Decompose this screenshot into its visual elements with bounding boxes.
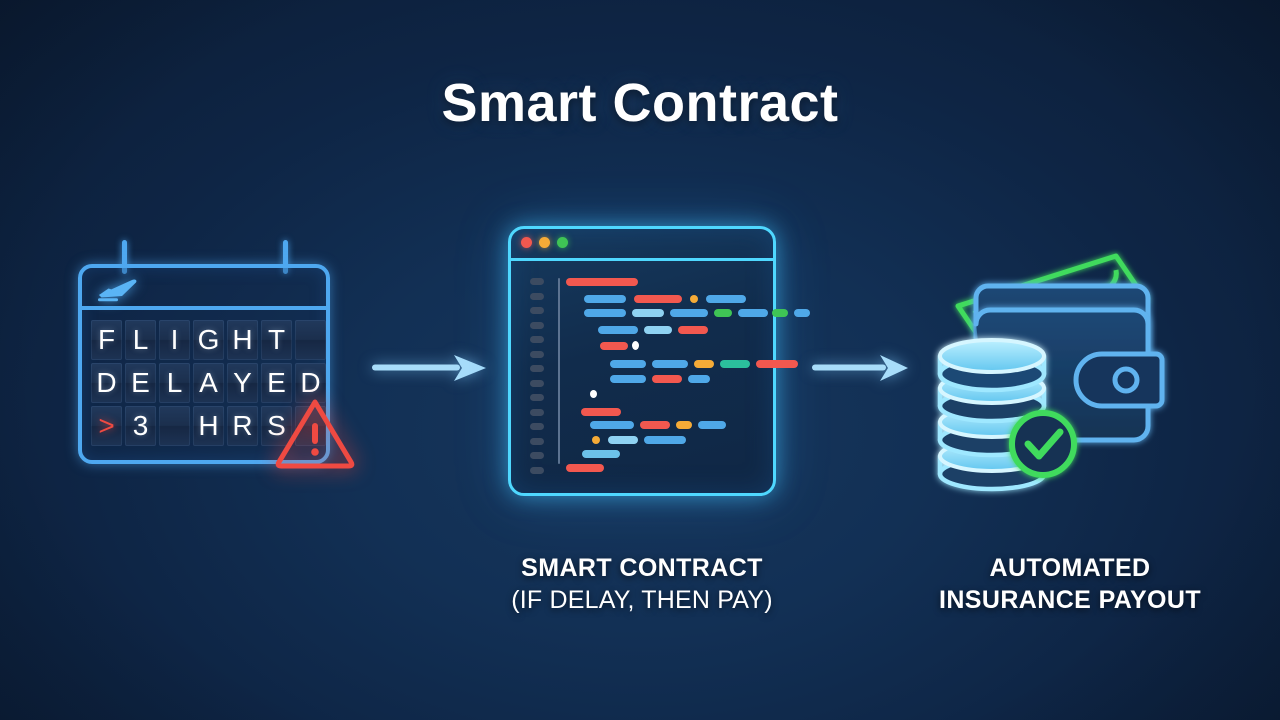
minimize-dot-icon[interactable] bbox=[539, 237, 550, 248]
code-token bbox=[632, 341, 639, 350]
line-number-pill bbox=[530, 365, 544, 372]
code-token bbox=[688, 375, 710, 383]
arrow-board-to-contract bbox=[372, 352, 490, 384]
flap-char: I bbox=[159, 320, 190, 360]
code-token bbox=[600, 342, 628, 350]
code-token bbox=[652, 375, 682, 383]
line-number-pill bbox=[530, 351, 544, 358]
code-token bbox=[756, 360, 798, 368]
code-token bbox=[714, 309, 732, 317]
code-token bbox=[706, 295, 746, 303]
code-token bbox=[610, 360, 646, 368]
line-number-pill bbox=[530, 438, 544, 445]
maximize-dot-icon[interactable] bbox=[557, 237, 568, 248]
code-token bbox=[581, 408, 621, 416]
code-token bbox=[584, 295, 626, 303]
line-number-pill bbox=[530, 467, 544, 474]
gutter-divider bbox=[558, 278, 560, 464]
window-title-bar bbox=[508, 226, 776, 261]
code-token bbox=[690, 295, 698, 303]
code-token bbox=[772, 309, 788, 317]
wallet-clasp bbox=[1076, 354, 1162, 406]
flap-char bbox=[295, 320, 326, 360]
caption-line-1: SMART CONTRACT bbox=[432, 552, 852, 584]
flap-char: L bbox=[159, 363, 190, 403]
caption-line-1: AUTOMATED bbox=[860, 552, 1280, 584]
infographic-canvas: Smart Contract FLIGHT DELAYED >3HRS bbox=[0, 0, 1280, 720]
check-circle-icon bbox=[1012, 413, 1074, 475]
code-token bbox=[640, 421, 670, 429]
flap-char: F bbox=[91, 320, 122, 360]
code-token bbox=[590, 390, 597, 398]
line-number-pill bbox=[530, 423, 544, 430]
line-number-pill bbox=[530, 278, 544, 285]
code-token bbox=[634, 295, 682, 303]
flap-char: H bbox=[227, 320, 258, 360]
code-token bbox=[610, 375, 646, 383]
line-number-pill bbox=[530, 293, 544, 300]
code-token bbox=[678, 326, 708, 334]
code-token bbox=[582, 450, 620, 458]
flap-row: FLIGHT bbox=[91, 320, 321, 360]
code-token bbox=[590, 421, 634, 429]
code-token bbox=[794, 309, 810, 317]
flap-char: 3 bbox=[125, 406, 156, 446]
flap-char: D bbox=[91, 363, 122, 403]
line-number-pill bbox=[530, 307, 544, 314]
code-token bbox=[652, 360, 688, 368]
code-token bbox=[670, 309, 708, 317]
code-token-area bbox=[566, 278, 762, 468]
code-token bbox=[566, 278, 638, 286]
code-token bbox=[644, 436, 686, 444]
caption-line-2: INSURANCE PAYOUT bbox=[860, 584, 1280, 616]
code-token bbox=[694, 360, 714, 368]
smart-contract-code-window bbox=[508, 226, 776, 496]
page-title: Smart Contract bbox=[0, 72, 1280, 134]
flap-char: R bbox=[227, 406, 258, 446]
code-token bbox=[608, 436, 638, 444]
code-token bbox=[698, 421, 726, 429]
line-number-gutter bbox=[530, 278, 544, 474]
arrow-contract-to-payout bbox=[812, 352, 912, 384]
flight-board: FLIGHT DELAYED >3HRS bbox=[78, 240, 338, 480]
line-number-pill bbox=[530, 452, 544, 459]
flap-char: T bbox=[261, 320, 292, 360]
caption-line-2: (IF DELAY, THEN PAY) bbox=[432, 584, 852, 616]
line-number-pill bbox=[530, 409, 544, 416]
flap-char: H bbox=[193, 406, 224, 446]
code-token bbox=[720, 360, 750, 368]
payout-illustration bbox=[930, 248, 1186, 498]
caption-insurance-payout: AUTOMATED INSURANCE PAYOUT bbox=[860, 552, 1280, 616]
flap-char: Y bbox=[227, 363, 258, 403]
flap-char: E bbox=[125, 363, 156, 403]
flap-char bbox=[159, 406, 190, 446]
line-number-pill bbox=[530, 336, 544, 343]
flap-char: L bbox=[125, 320, 156, 360]
code-token bbox=[644, 326, 672, 334]
flap-char-alert: > bbox=[91, 406, 122, 446]
flap-char: A bbox=[193, 363, 224, 403]
line-number-pill bbox=[530, 322, 544, 329]
warning-triangle-icon bbox=[274, 395, 356, 469]
line-number-pill bbox=[530, 394, 544, 401]
code-token bbox=[592, 436, 600, 444]
flap-char: G bbox=[193, 320, 224, 360]
caption-smart-contract: SMART CONTRACT (IF DELAY, THEN PAY) bbox=[432, 552, 852, 616]
line-number-pill bbox=[530, 380, 544, 387]
code-token bbox=[566, 464, 604, 472]
airplane-departure-icon bbox=[96, 276, 138, 302]
code-token bbox=[584, 309, 626, 317]
code-token bbox=[598, 326, 638, 334]
code-token bbox=[632, 309, 664, 317]
code-token bbox=[738, 309, 768, 317]
code-token bbox=[676, 421, 692, 429]
close-dot-icon[interactable] bbox=[521, 237, 532, 248]
